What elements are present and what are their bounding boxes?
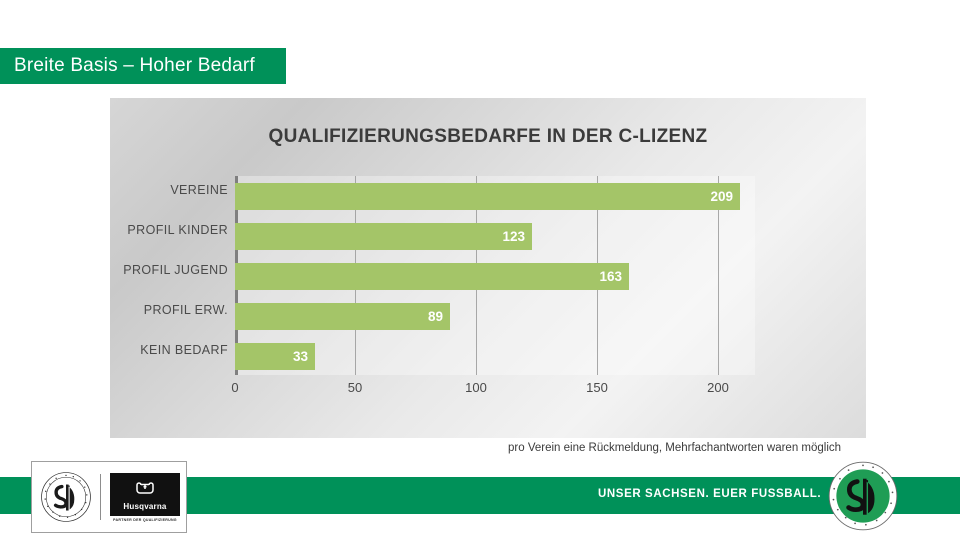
category-label-1: PROFIL KINDER bbox=[127, 223, 228, 237]
sfv-emblem-right-icon bbox=[827, 460, 899, 532]
bar-kein-bedarf: 33 bbox=[235, 343, 315, 370]
sfv-emblem-icon bbox=[40, 471, 92, 523]
category-label-2: PROFIL JUGEND bbox=[123, 263, 228, 277]
xtick-label-1: 50 bbox=[348, 380, 362, 395]
chart-footnote: pro Verein eine Rückmeldung, Mehrfachant… bbox=[508, 442, 841, 454]
category-label-0: VEREINE bbox=[170, 183, 228, 197]
category-label-4: KEIN BEDARF bbox=[140, 343, 228, 357]
chart-panel: QUALIFIZIERUNGSBEDARFE IN DER C-LIZENZ V… bbox=[110, 98, 866, 438]
xtick-label-4: 200 bbox=[707, 380, 729, 395]
slide-title-banner: Breite Basis – Hoher Bedarf bbox=[0, 48, 286, 84]
husqvarna-wordmark: Husqvarna bbox=[114, 502, 176, 511]
xtick-label-0: 0 bbox=[231, 380, 238, 395]
bar-value-label-2: 163 bbox=[599, 269, 629, 284]
husqvarna-crown-icon bbox=[135, 479, 155, 495]
footer-slogan: UNSER SACHSEN. EUER FUSSBALL. bbox=[598, 488, 821, 500]
category-label-3: PROFIL ERW. bbox=[144, 303, 228, 317]
husqvarna-badge: Husqvarna bbox=[110, 473, 180, 516]
bar-value-label-0: 209 bbox=[710, 189, 740, 204]
bar-value-label-1: 123 bbox=[502, 229, 532, 244]
bar-vereine: 209 bbox=[235, 183, 740, 210]
husqvarna-tagline: PARTNER DER QUALIFIZIERUNG bbox=[110, 518, 180, 522]
bar-profil-erw: 89 bbox=[235, 303, 450, 330]
xtick-label-2: 100 bbox=[465, 380, 487, 395]
bar-value-label-3: 89 bbox=[428, 309, 450, 324]
bar-profil-jugend: 163 bbox=[235, 263, 629, 290]
slide-title-text: Breite Basis – Hoher Bedarf bbox=[0, 55, 255, 77]
logo-separator bbox=[100, 474, 101, 520]
plot-area: 209 123 163 89 33 0 50 100 150 200 bbox=[235, 176, 755, 372]
chart-category-axis: VEREINE PROFIL KINDER PROFIL JUGEND PROF… bbox=[110, 176, 228, 375]
xtick-label-3: 150 bbox=[586, 380, 608, 395]
husqvarna-logo: Husqvarna PARTNER DER QUALIFIZIERUNG bbox=[110, 473, 180, 522]
partner-logo-box: Husqvarna PARTNER DER QUALIFIZIERUNG bbox=[31, 461, 187, 533]
chart-title: QUALIFIZIERUNGSBEDARFE IN DER C-LIZENZ bbox=[110, 126, 866, 148]
bar-profil-kinder: 123 bbox=[235, 223, 532, 250]
bar-value-label-4: 33 bbox=[293, 349, 315, 364]
